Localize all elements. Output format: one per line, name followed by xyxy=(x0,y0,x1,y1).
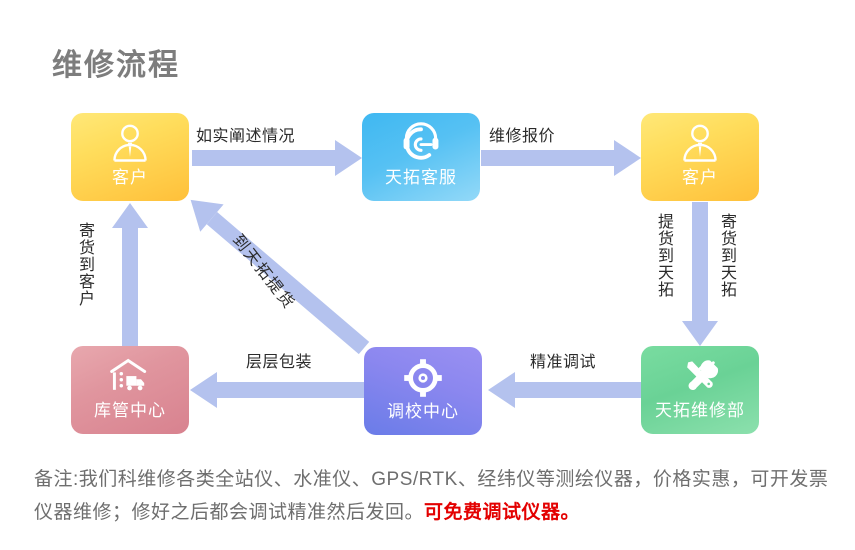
node-warehouse-center[interactable]: 库管中心 xyxy=(71,346,189,434)
edge-label-ship-to-tiantuo: 寄货到天拓 xyxy=(717,213,735,298)
edge-label-precise-debug: 精准调试 xyxy=(530,348,596,372)
wrench-screwdriver-icon xyxy=(678,355,722,399)
user-tie-icon xyxy=(108,122,152,166)
edge-label-pickup-to-tiantuo: 提货到天拓 xyxy=(654,213,672,298)
node-label: 调校中心 xyxy=(387,401,459,423)
edge-label-ship-to-customer: 寄货到客户 xyxy=(75,222,93,307)
repair-process-diagram: 维修流程 xyxy=(0,0,855,550)
arrow-debug xyxy=(488,372,642,408)
node-label: 天拓维修部 xyxy=(655,400,745,422)
warehouse-truck-icon xyxy=(108,355,152,399)
headset-support-icon xyxy=(399,122,443,166)
arrow-pickup-ship-tt xyxy=(682,202,718,346)
user-tie-icon xyxy=(678,122,722,166)
node-customer-2[interactable]: 客户 xyxy=(641,113,759,201)
edge-label-quote: 维修报价 xyxy=(489,122,555,146)
arrow-ship-customer xyxy=(112,203,148,346)
node-customer-1[interactable]: 客户 xyxy=(71,113,189,201)
arrow-package xyxy=(190,372,364,408)
node-label: 天拓客服 xyxy=(385,167,457,189)
node-label: 客户 xyxy=(112,167,148,189)
node-service[interactable]: 天拓客服 xyxy=(362,113,480,201)
node-repair-department[interactable]: 天拓维修部 xyxy=(641,346,759,434)
node-label: 库管中心 xyxy=(94,400,166,422)
node-calibration-center[interactable]: 调校中心 xyxy=(364,347,482,435)
crosshair-gear-icon xyxy=(401,356,445,400)
edge-label-layered-packaging: 层层包装 xyxy=(246,348,312,372)
node-label: 客户 xyxy=(682,167,718,189)
edge-label-describe: 如实阐述情况 xyxy=(196,122,295,146)
